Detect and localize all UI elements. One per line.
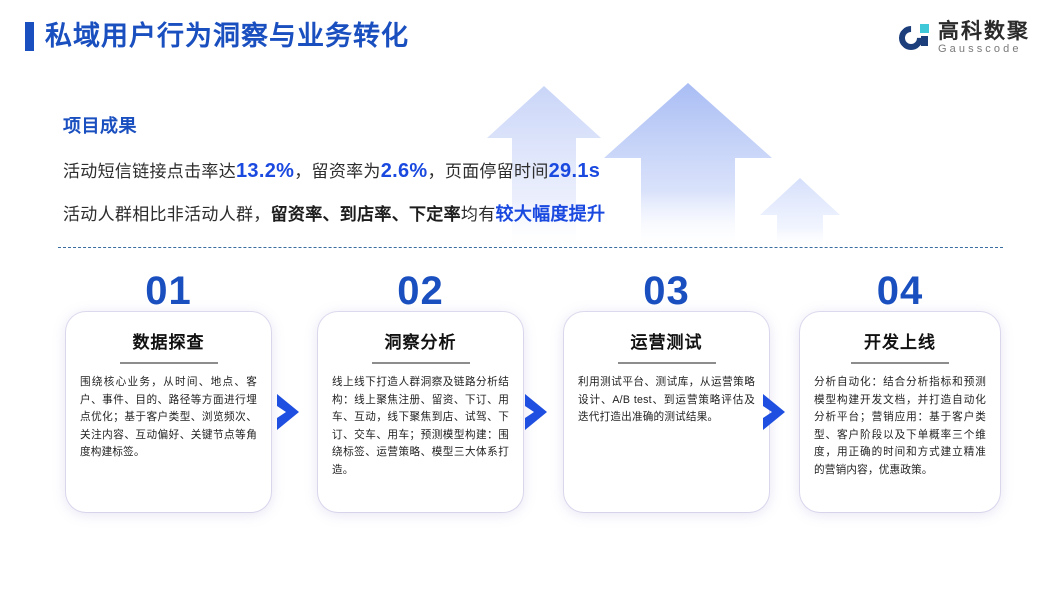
results-line2-seg1: 活动人群相比非活动人群， (63, 205, 271, 224)
metric-click-rate: 13.2% (236, 160, 294, 182)
step-card-2[interactable]: 02 洞察分析 线上线下打造人群洞察及链路分析结构：线上聚焦注册、留资、下订、用… (318, 312, 523, 512)
metric-lead-rate: 2.6% (381, 160, 428, 182)
brand-logo: 高科数聚 Gausscode (899, 18, 1030, 58)
results-line1-seg2: ，留资率为 (294, 162, 381, 181)
step-title-1: 数据探查 (66, 328, 271, 353)
chevron-right-icon-2 (523, 392, 549, 432)
results-line1-seg1: 活动短信链接点击率达 (63, 162, 236, 181)
logo-name-cn: 高科数聚 (938, 21, 1030, 42)
results-line-2: 活动人群相比非活动人群，留资率、到店率、下定率均有较大幅度提升 (63, 202, 823, 227)
gausscode-logo-icon (899, 23, 929, 53)
step-body-4: 分析自动化：结合分析指标和预测模型构建开发文档，并打造自动化分析平台；营销应用：… (814, 374, 986, 479)
results-line2-highlight: 较大幅度提升 (496, 204, 606, 224)
step-card-4[interactable]: 04 开发上线 分析自动化：结合分析指标和预测模型构建开发文档，并打造自动化分析… (800, 312, 1000, 512)
title-accent-bar (25, 22, 34, 51)
step-body-2: 线上线下打造人群洞察及链路分析结构：线上聚焦注册、留资、下订、用车、互动，线下聚… (332, 374, 509, 479)
step-number-4: 04 (800, 268, 1000, 314)
step-rule-2 (372, 362, 470, 364)
process-steps: 01 数据探查 围绕核心业务，从时间、地点、客户、事件、目的、路径等方面进行埋点… (0, 270, 1048, 520)
step-card-3[interactable]: 03 运营测试 利用测试平台、测试库，从运营策略设计、A/B test、到运营策… (564, 312, 769, 512)
project-results-section: 项目成果 活动短信链接点击率达13.2%，留资率为2.6%，页面停留时间29.1… (63, 112, 823, 245)
results-line2-metrics: 留资率、到店率、下定率 (271, 205, 461, 224)
step-title-3: 运营测试 (564, 328, 769, 353)
results-line2-seg2: 均有 (461, 205, 496, 224)
step-title-2: 洞察分析 (318, 328, 523, 353)
step-rule-1 (120, 362, 218, 364)
step-rule-3 (618, 362, 716, 364)
section-divider (58, 247, 1003, 248)
slide-root: 私域用户行为洞察与业务转化 高科数聚 Gausscode 项目成果 活动短信链接… (0, 0, 1048, 591)
chevron-right-icon-1 (275, 392, 301, 432)
slide-header: 私域用户行为洞察与业务转化 高科数聚 Gausscode (0, 0, 1048, 78)
step-number-3: 03 (564, 268, 769, 314)
metric-dwell-time: 29.1s (549, 160, 601, 182)
step-body-1: 围绕核心业务，从时间、地点、客户、事件、目的、路径等方面进行埋点优化；基于客户类… (80, 374, 257, 462)
step-number-2: 02 (318, 268, 523, 314)
step-rule-4 (851, 362, 949, 364)
chevron-right-icon-3 (761, 392, 787, 432)
step-card-1[interactable]: 01 数据探查 围绕核心业务，从时间、地点、客户、事件、目的、路径等方面进行埋点… (66, 312, 271, 512)
step-title-4: 开发上线 (800, 328, 1000, 353)
results-heading: 项目成果 (63, 112, 823, 138)
page-title: 私域用户行为洞察与业务转化 (45, 16, 409, 56)
logo-name-en: Gausscode (938, 44, 1030, 55)
results-line1-seg3: ，页面停留时间 (428, 162, 549, 181)
step-body-3: 利用测试平台、测试库，从运营策略设计、A/B test、到运营策略评估及迭代打造… (578, 374, 755, 427)
results-line-1: 活动短信链接点击率达13.2%，留资率为2.6%，页面停留时间29.1s (63, 159, 823, 184)
step-number-1: 01 (66, 268, 271, 314)
